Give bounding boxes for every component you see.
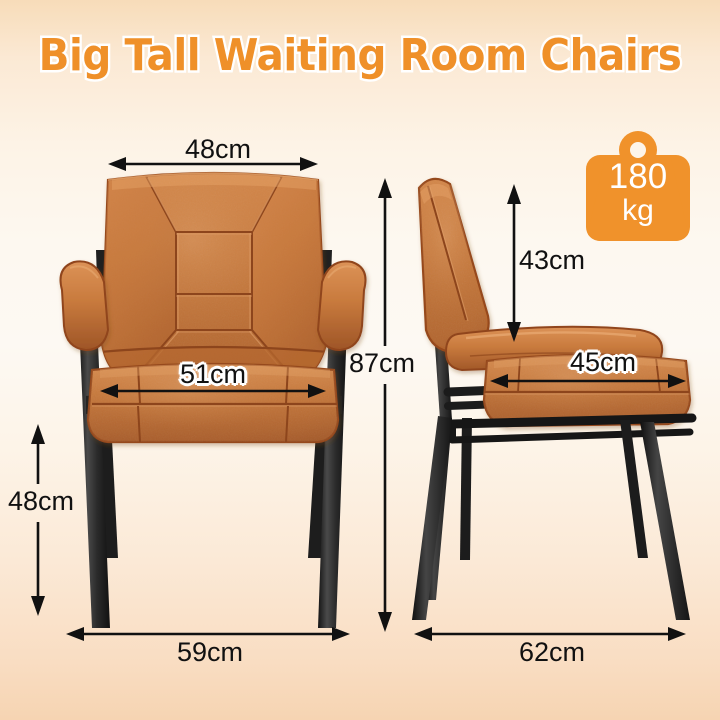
dimension-label-base-depth: 62cm — [519, 639, 585, 666]
dimension-label-total-height: 87cm — [349, 350, 415, 377]
front-chair-backrest — [95, 160, 340, 390]
dimension-label-seat-width: 51cm — [180, 361, 246, 388]
side-view-chair — [402, 170, 700, 620]
dimension-label-backrest-width: 48cm — [185, 136, 251, 163]
dimension-label-backrest-height: 43cm — [519, 247, 585, 274]
front-chair-armrest-right — [318, 261, 366, 350]
dimension-label-seat-depth: 45cm — [570, 349, 636, 376]
front-view-chair — [61, 160, 366, 628]
dimension-label-seat-height: 48cm — [8, 488, 74, 515]
dimension-label-base-width: 59cm — [177, 639, 243, 666]
product-infographic: Big Tall Waiting Room Chairs 180 kg — [0, 0, 720, 720]
side-chair-front-legs — [620, 420, 690, 620]
front-chair-armrest-left — [61, 261, 109, 350]
dimension-arrow-total-height — [378, 178, 392, 632]
dimension-arrow-seat-height — [31, 424, 45, 616]
